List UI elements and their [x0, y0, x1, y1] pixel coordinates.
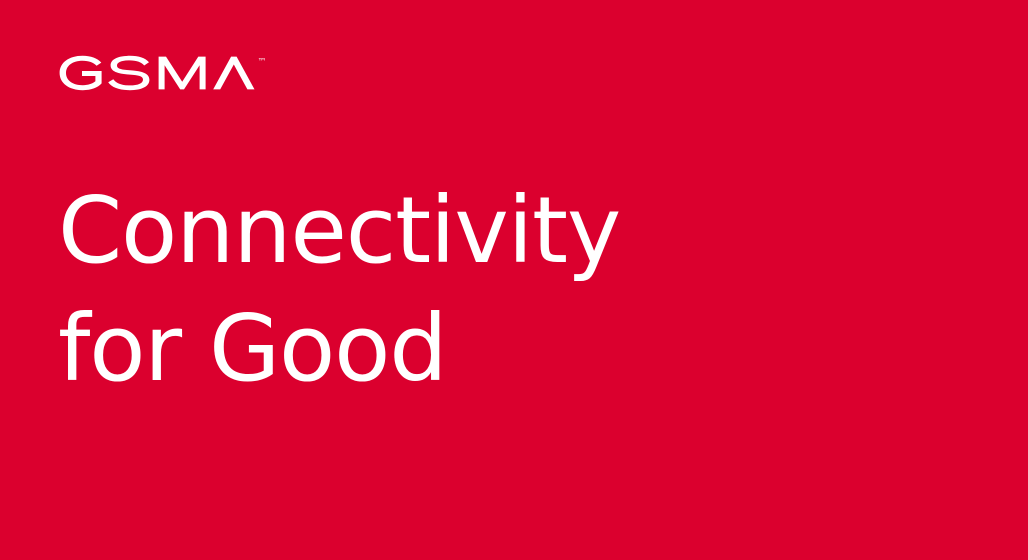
gsma-logo[interactable]: GSMA ™ — [58, 55, 274, 91]
trademark-icon: ™ — [258, 58, 267, 68]
gsma-logo-icon: ™ — [58, 55, 274, 91]
slide-canvas: GSMA ™ Connectivity for Good — [0, 0, 1028, 560]
headline-line-1: Connectivity — [58, 172, 758, 290]
headline-line-2: for Good — [58, 290, 758, 408]
page-title: Connectivity for Good — [58, 172, 758, 408]
